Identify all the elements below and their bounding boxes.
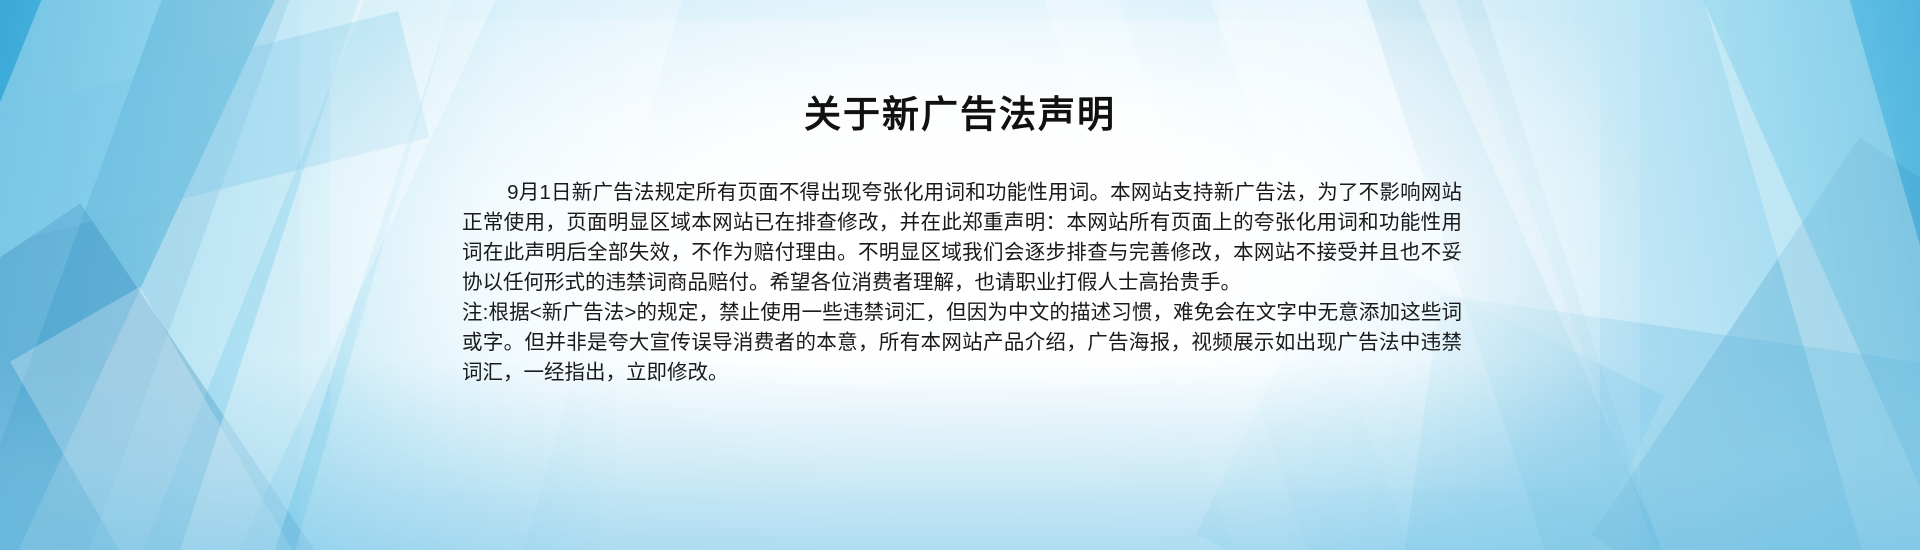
statement-paragraph: 9月1日新广告法规定所有页面不得出现夸张化用词和功能性用词。本网站支持新广告法，… (462, 178, 1462, 298)
page-title: 关于新广告法声明 (0, 92, 1920, 138)
statement-note-paragraph: 注:根据<新广告法>的规定，禁止使用一些违禁词汇，但因为中文的描述习惯，难免会在… (462, 298, 1462, 388)
advertising-law-statement-banner: 关于新广告法声明 9月1日新广告法规定所有页面不得出现夸张化用词和功能性用词。本… (0, 0, 1920, 550)
statement-content: 关于新广告法声明 9月1日新广告法规定所有页面不得出现夸张化用词和功能性用词。本… (0, 0, 1920, 550)
statement-body: 9月1日新广告法规定所有页面不得出现夸张化用词和功能性用词。本网站支持新广告法，… (462, 178, 1462, 388)
